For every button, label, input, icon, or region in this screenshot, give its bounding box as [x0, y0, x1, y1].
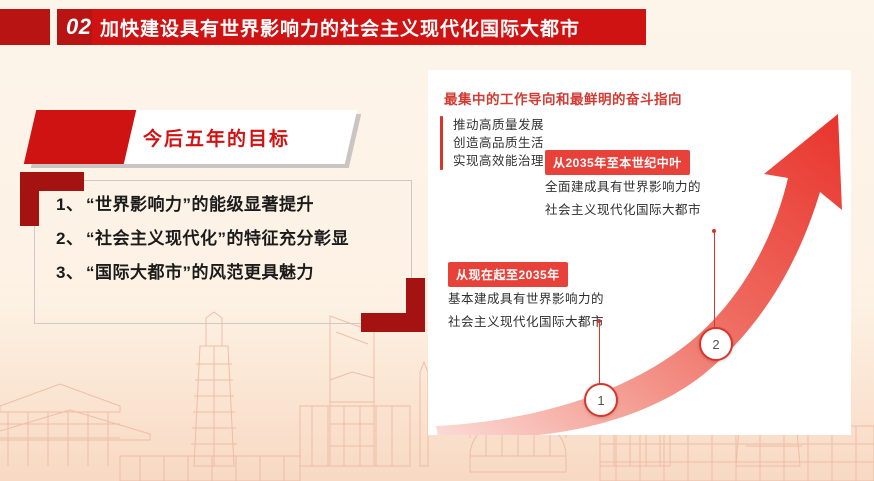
bullet-accent-bar [440, 116, 443, 170]
list-item-number: 2、 [56, 230, 86, 247]
goal-banner: 今后五年的目标 [33, 110, 353, 166]
infographic-card: 最集中的工作导向和最鲜明的奋斗指向 推动高质量发展 创造高品质生活 实现高效能治… [428, 70, 851, 435]
stage-2-callout: 从2035年至本世纪中叶 全面建成具有世界影响力的 社会主义现代化国际大都市 [545, 150, 701, 221]
stage-2-tag: 从2035年至本世纪中叶 [545, 150, 690, 175]
list-item-number: 1、 [56, 196, 86, 213]
stage-1-line: 基本建成具有世界影响力的 [448, 289, 604, 310]
bullet-line: 实现高效能治理 [453, 152, 544, 170]
slide-canvas: 02 加快建设具有世界影响力的社会主义现代化国际大都市 今后五年的目标 1、 “… [0, 0, 874, 481]
page-title: 加快建设具有世界影响力的社会主义现代化国际大都市 [92, 14, 580, 41]
infographic-title: 最集中的工作导向和最鲜明的奋斗指向 [444, 88, 682, 108]
header-number-text: 02 [66, 16, 91, 38]
stage-1-line: 社会主义现代化国际大都市 [448, 312, 604, 333]
bullet-line: 创造高品质生活 [453, 134, 544, 152]
header-left-block [0, 9, 50, 45]
banner-label: 今后五年的目标 [143, 124, 290, 151]
stage-2-connector-line [714, 231, 715, 329]
banner-label-wrap: 今后五年的目标 [143, 110, 290, 164]
direction-bullet-list: 推动高质量发展 创造高品质生活 实现高效能治理 [440, 116, 544, 170]
list-item-text: “世界影响力”的能级显著提升 [86, 196, 314, 213]
stage-2-lines: 全面建成具有世界影响力的 社会主义现代化国际大都市 [545, 177, 701, 221]
list-item: 3、 “国际大都市”的风范更具魅力 [56, 264, 416, 281]
bullet-lines: 推动高质量发展 创造高品质生活 实现高效能治理 [453, 116, 544, 170]
goal-list: 1、 “世界影响力”的能级显著提升 2、 “社会主义现代化”的特征充分彰显 3、… [56, 196, 416, 298]
list-item-number: 3、 [56, 264, 86, 281]
stage-1-node: 1 [584, 383, 618, 417]
stage-2-node: 2 [699, 327, 733, 361]
stage-1-lines: 基本建成具有世界影响力的 社会主义现代化国际大都市 [448, 289, 604, 333]
list-item: 2、 “社会主义现代化”的特征充分彰显 [56, 230, 416, 247]
list-item: 1、 “世界影响力”的能级显著提升 [56, 196, 416, 213]
list-item-text: “国际大都市”的风范更具魅力 [86, 264, 314, 281]
stage-1-callout: 从现在起至2035年 基本建成具有世界影响力的 社会主义现代化国际大都市 [448, 262, 604, 333]
bullet-line: 推动高质量发展 [453, 116, 544, 134]
stage-1-connector-line [599, 321, 600, 385]
stage-2-line: 社会主义现代化国际大都市 [545, 200, 701, 221]
header-title-bar: 加快建设具有世界影响力的社会主义现代化国际大都市 [92, 9, 646, 45]
slide-header: 02 加快建设具有世界影响力的社会主义现代化国际大都市 [0, 9, 646, 45]
stage-2-line: 全面建成具有世界影响力的 [545, 177, 701, 198]
list-item-text: “社会主义现代化”的特征充分彰显 [86, 230, 349, 247]
stage-1-tag: 从现在起至2035年 [448, 262, 568, 287]
banner-red-block [24, 110, 136, 164]
